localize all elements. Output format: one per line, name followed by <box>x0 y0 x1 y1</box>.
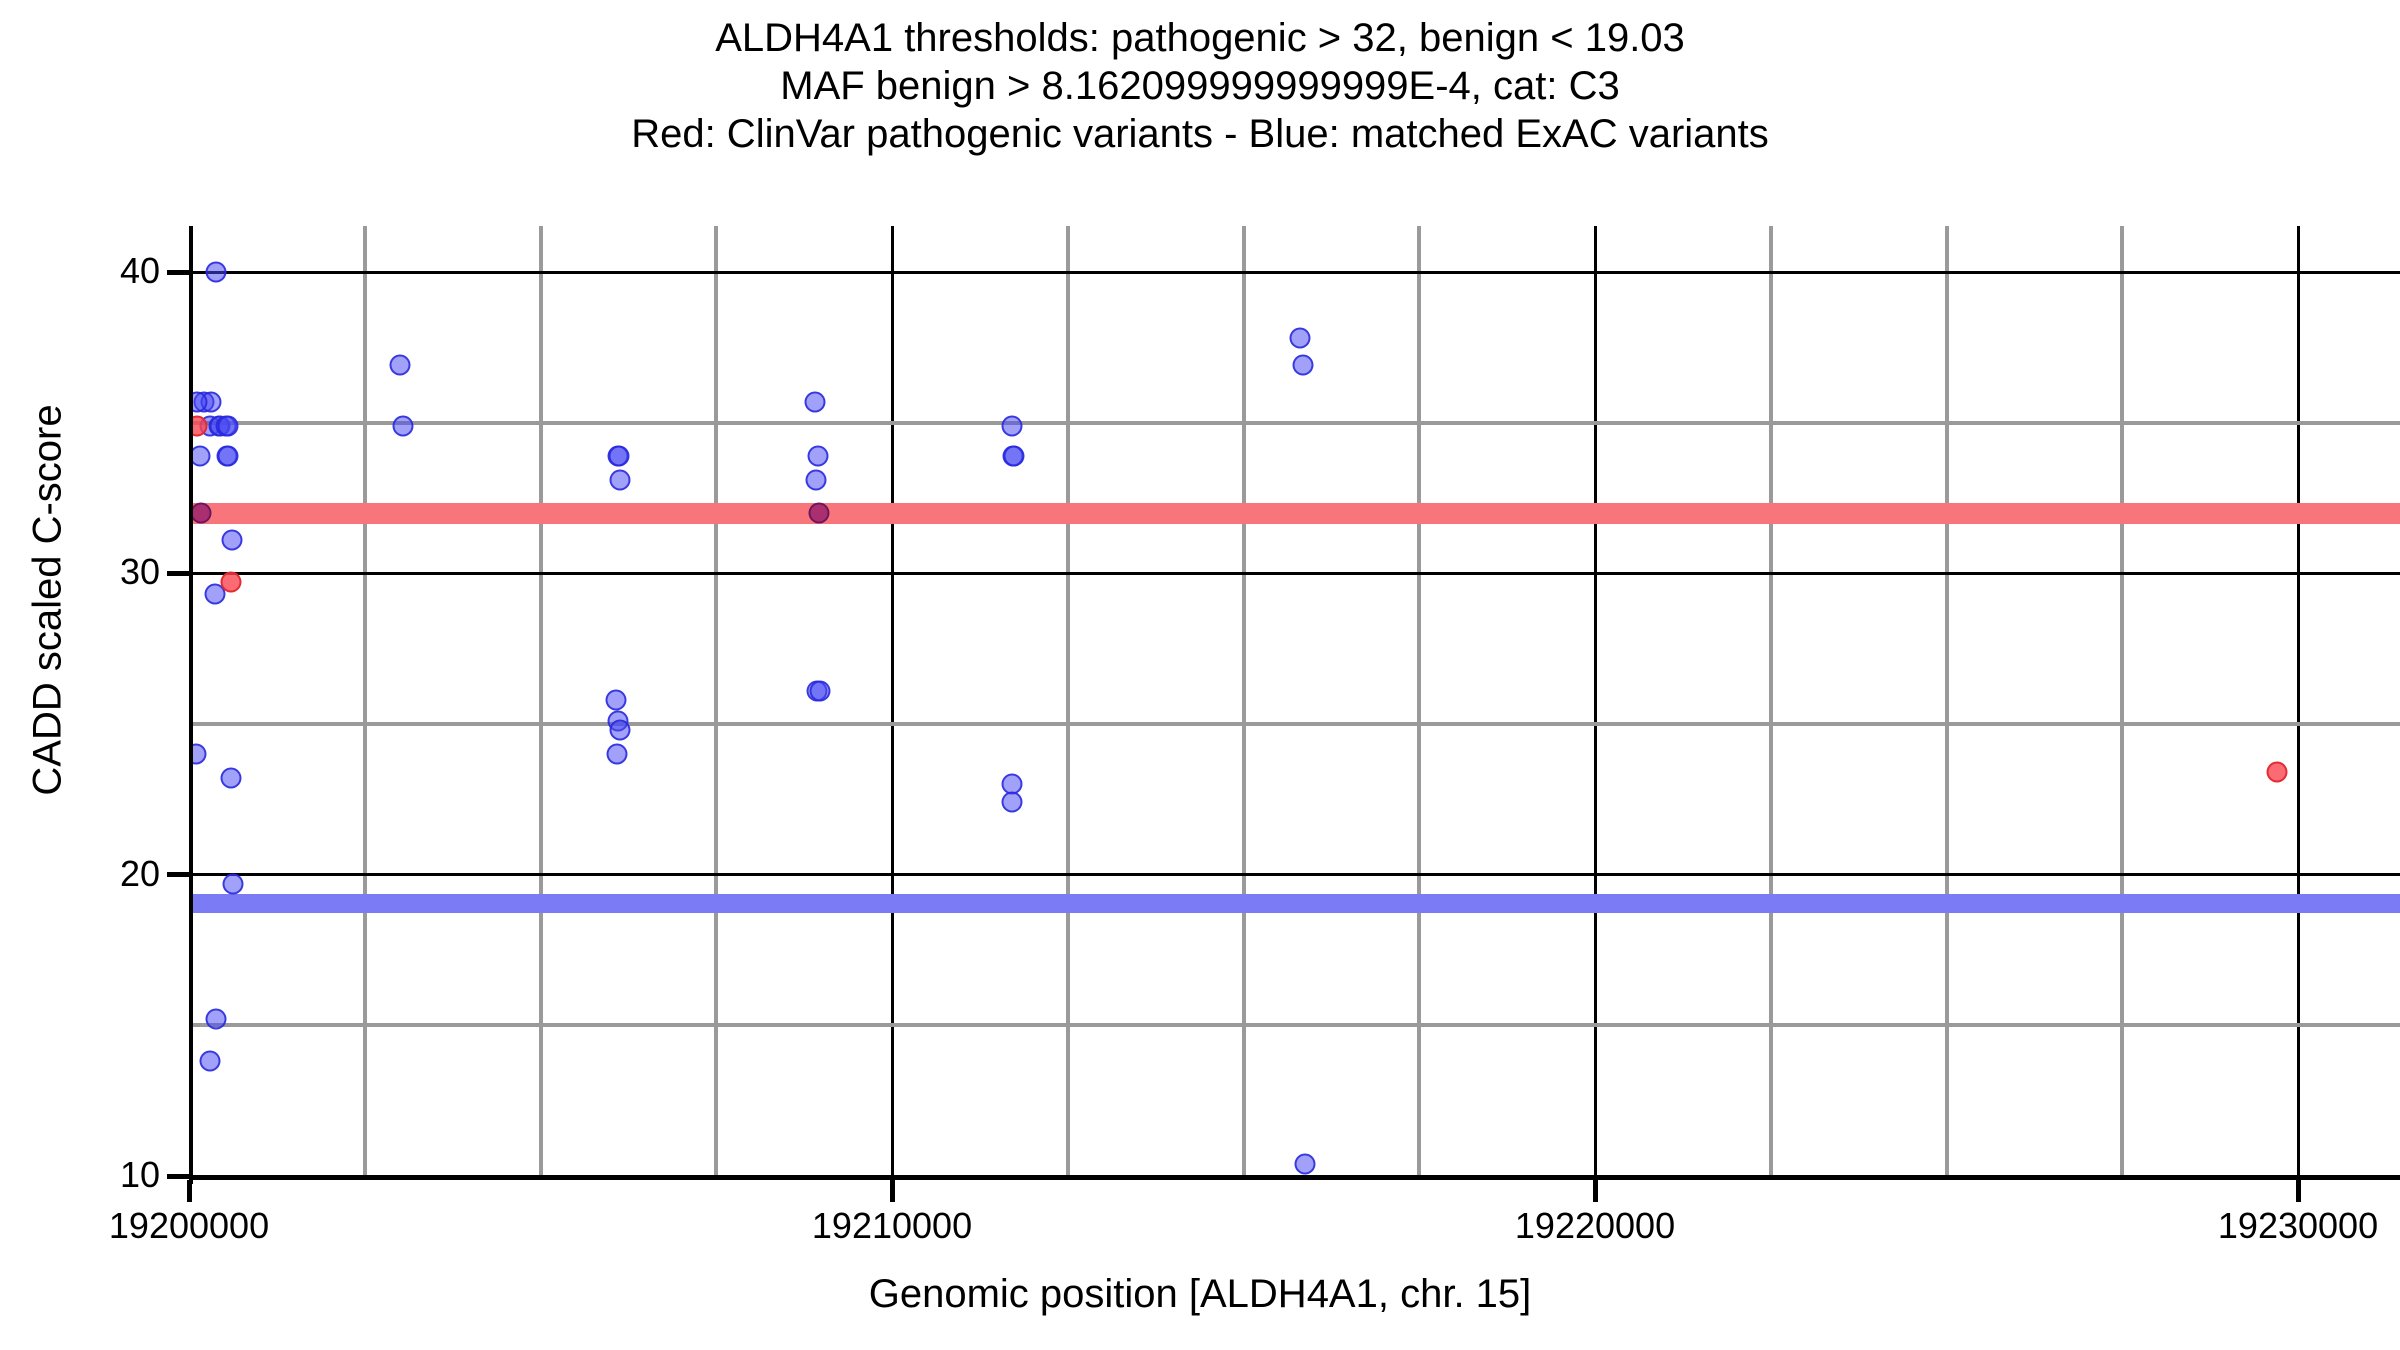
data-point <box>810 680 831 701</box>
threshold-band-pathogenic <box>189 503 2400 524</box>
gridline-vertical <box>714 226 718 1176</box>
x-tick-label: 19210000 <box>812 1205 972 1247</box>
title-line-1: ALDH4A1 thresholds: pathogenic > 32, ben… <box>0 14 2400 62</box>
gridline-vertical <box>1242 226 1246 1176</box>
data-point <box>1001 415 1022 436</box>
data-point <box>1004 445 1025 466</box>
data-point <box>221 572 242 593</box>
data-point <box>606 689 627 710</box>
title-line-2: MAF benign > 8.162099999999999E-4, cat: … <box>0 62 2400 110</box>
x-tick-mark <box>187 1180 192 1202</box>
gridline-vertical <box>1417 226 1421 1176</box>
y-tick-mark <box>167 872 189 877</box>
gridline-vertical <box>2297 226 2300 1176</box>
data-point <box>221 530 242 551</box>
gridline-horizontal <box>189 271 2400 274</box>
plot-canvas <box>189 226 2400 1176</box>
y-axis-title: CADD scaled C-score <box>26 404 71 795</box>
data-point <box>607 744 628 765</box>
gridline-horizontal <box>189 873 2400 876</box>
y-tick-mark <box>167 1174 189 1179</box>
y-axis-line <box>189 226 193 1184</box>
data-point <box>609 445 630 466</box>
y-tick-mark <box>167 571 189 576</box>
data-point <box>1289 328 1310 349</box>
chart-root: ALDH4A1 thresholds: pathogenic > 32, ben… <box>0 0 2400 1350</box>
gridline-vertical <box>1769 226 1773 1176</box>
x-tick-mark <box>890 1180 895 1202</box>
threshold-band-benign <box>189 894 2400 913</box>
x-tick-label: 19200000 <box>109 1205 269 1247</box>
data-point <box>808 445 829 466</box>
gridline-vertical <box>1066 226 1070 1176</box>
data-point <box>393 415 414 436</box>
data-point <box>218 445 239 466</box>
data-point <box>190 503 211 524</box>
gridline-vertical <box>891 226 894 1176</box>
data-point <box>808 503 829 524</box>
data-point <box>1292 355 1313 376</box>
x-tick-label: 19230000 <box>2218 1205 2378 1247</box>
title-line-3: Red: ClinVar pathogenic variants - Blue:… <box>0 110 2400 158</box>
gridline-vertical <box>363 226 367 1176</box>
gridline-horizontal <box>189 1023 2400 1027</box>
data-point <box>222 873 243 894</box>
data-point <box>1002 792 1023 813</box>
data-point <box>389 355 410 376</box>
data-point <box>206 262 227 283</box>
x-axis-line <box>189 1176 2400 1180</box>
data-point <box>1294 1153 1315 1174</box>
data-point <box>218 415 239 436</box>
data-point <box>806 469 827 490</box>
gridline-horizontal <box>189 421 2400 425</box>
data-point <box>206 1009 227 1030</box>
x-tick-mark <box>1593 1180 1598 1202</box>
data-point <box>804 391 825 412</box>
data-point <box>200 1051 221 1072</box>
data-point <box>221 768 242 789</box>
y-tick-mark <box>167 270 189 275</box>
x-tick-label: 19220000 <box>1515 1205 1675 1247</box>
x-axis-title: Genomic position [ALDH4A1, chr. 15] <box>0 1272 2400 1317</box>
plot-area <box>189 226 2400 1176</box>
y-tick-label: 40 <box>0 250 160 292</box>
y-tick-label: 20 <box>0 853 160 895</box>
gridline-horizontal <box>189 572 2400 575</box>
gridline-vertical <box>1945 226 1949 1176</box>
x-tick-mark <box>2296 1180 2301 1202</box>
data-point <box>609 720 630 741</box>
chart-title-block: ALDH4A1 thresholds: pathogenic > 32, ben… <box>0 0 2400 158</box>
data-point <box>2266 762 2287 783</box>
gridline-vertical <box>1594 226 1597 1176</box>
y-axis-title-host: CADD scaled C-score <box>58 0 59 1350</box>
gridline-vertical <box>2120 226 2124 1176</box>
y-tick-label: 10 <box>0 1154 160 1196</box>
gridline-horizontal <box>189 722 2400 726</box>
gridline-vertical <box>539 226 543 1176</box>
y-tick-label: 30 <box>0 551 160 593</box>
data-point <box>609 469 630 490</box>
